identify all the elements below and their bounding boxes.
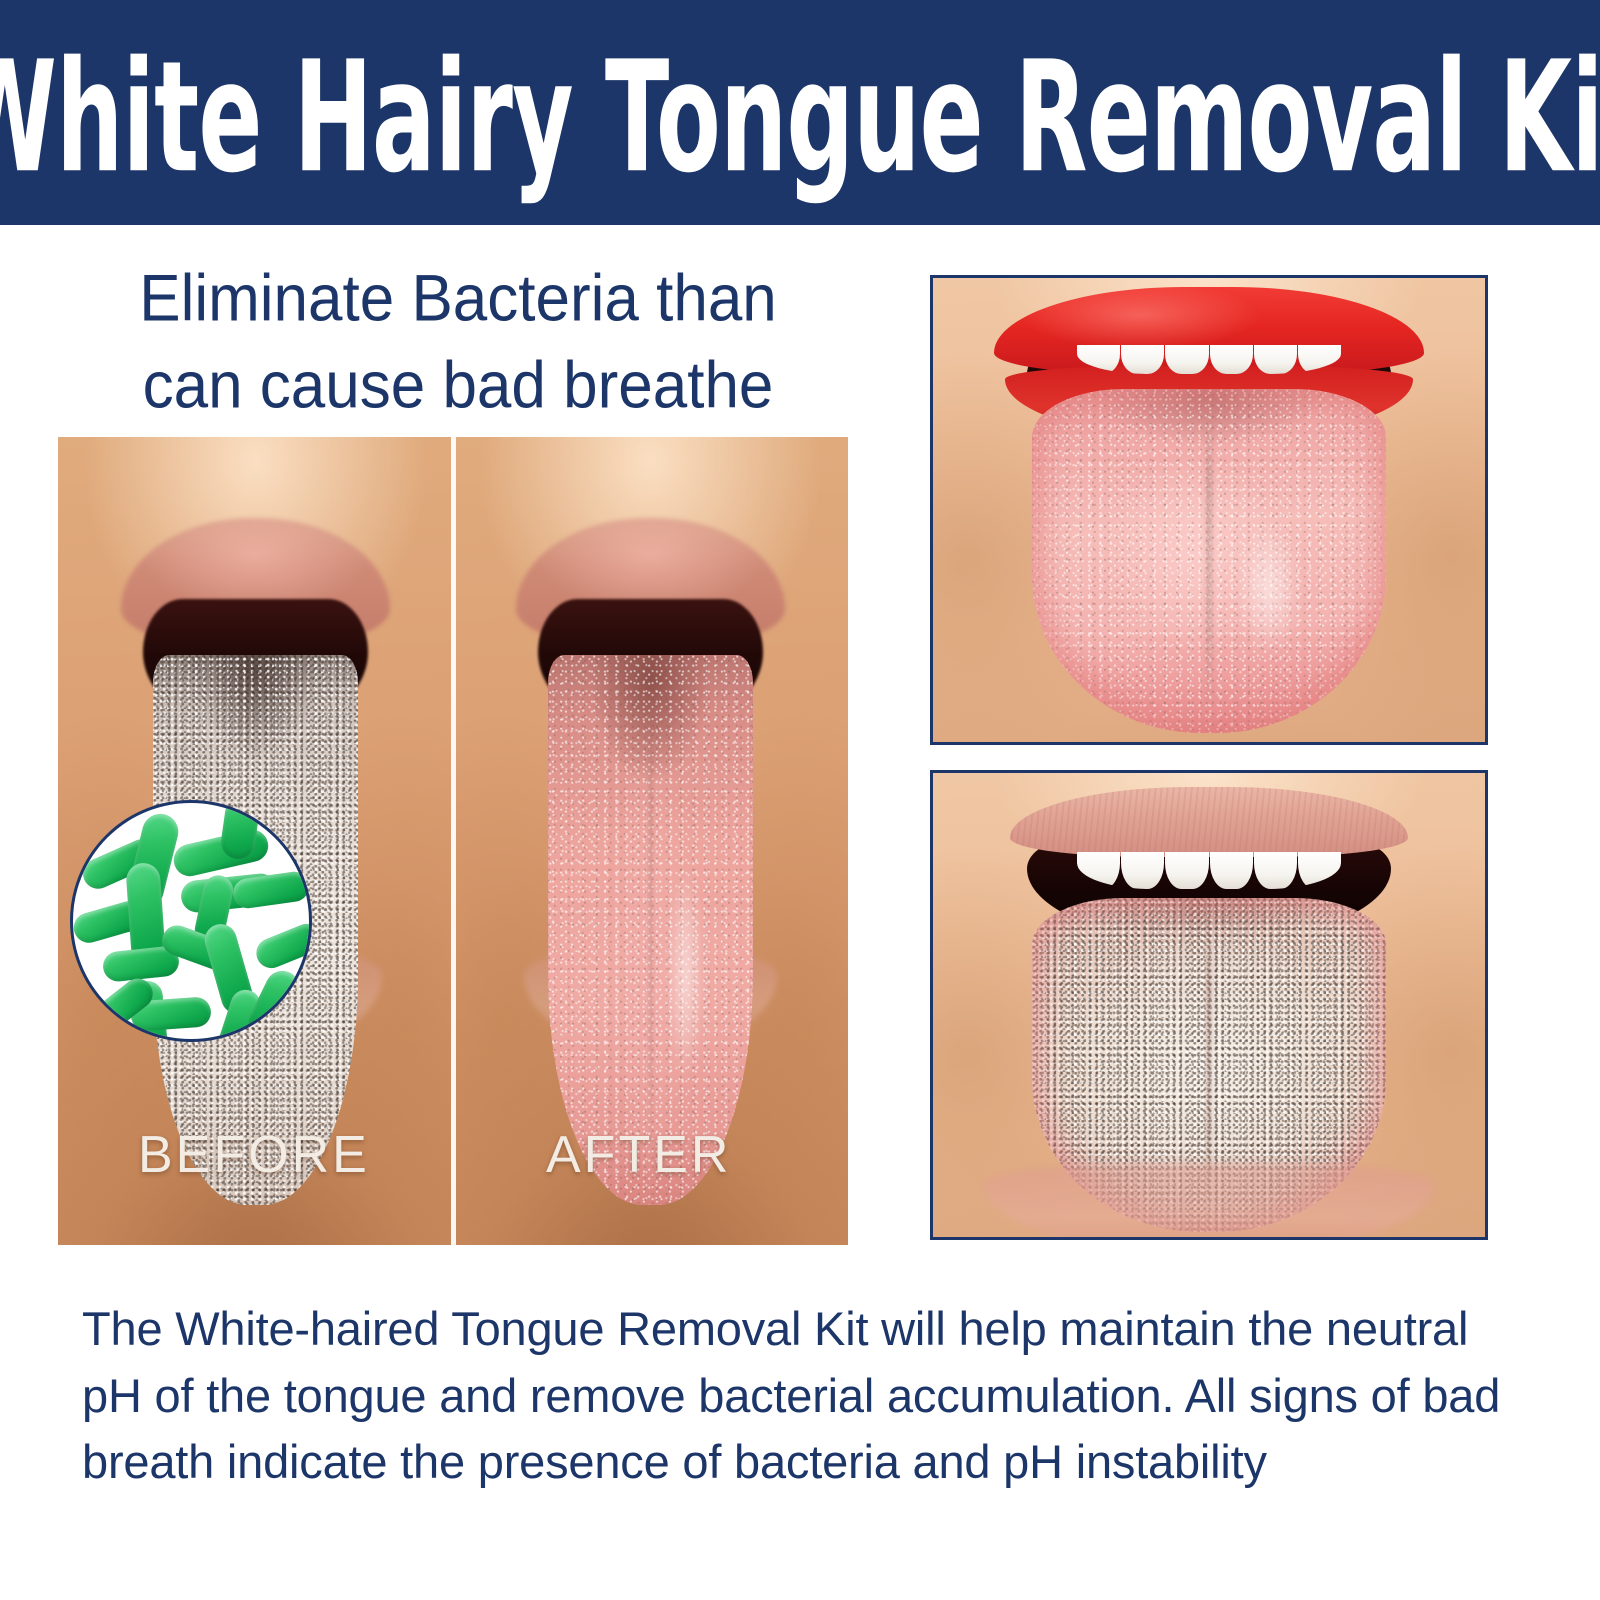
healthy-tongue-photo <box>930 275 1488 745</box>
subtitle-line-2: can cause bad breathe <box>58 343 858 430</box>
tooth <box>1210 345 1253 374</box>
tongue-edge-shading <box>1032 389 1385 732</box>
tooth <box>1254 345 1297 374</box>
tooth <box>1254 852 1297 889</box>
tooth <box>1121 345 1164 374</box>
before-after-comparison-image: BEFORE AFTER <box>58 437 848 1245</box>
header-banner: White Hairy Tongue Removal Kit <box>0 0 1600 225</box>
subtitle-line-1: Eliminate Bacteria than <box>58 256 858 343</box>
after-label: AFTER <box>546 1125 731 1185</box>
tongue-midline <box>649 688 652 1172</box>
upper-teeth-row <box>1077 852 1342 889</box>
after-half <box>453 437 848 1245</box>
bacteria-magnifier-icon <box>70 800 312 1042</box>
tongue-gloss-highlight <box>667 864 704 1084</box>
product-marketing-image: White Hairy Tongue Removal Kit Eliminate… <box>0 0 1600 1600</box>
upper-teeth-row <box>1077 345 1342 374</box>
bacteria-rod <box>252 919 312 972</box>
before-label: BEFORE <box>138 1125 370 1185</box>
tooth <box>1165 345 1208 374</box>
tooth <box>1210 852 1253 889</box>
tongue-gloss-highlight <box>1237 520 1301 657</box>
product-description-paragraph: The White-haired Tongue Removal Kit will… <box>82 1296 1522 1496</box>
lower-lip <box>983 1163 1436 1240</box>
coated-tongue-photo <box>930 770 1488 1240</box>
subtitle-heading: Eliminate Bacteria than can cause bad br… <box>58 256 858 429</box>
healthy-pink-tongue <box>1032 389 1385 732</box>
page-title: White Hairy Tongue Removal Kit <box>0 32 1600 193</box>
tooth <box>1165 852 1208 889</box>
tooth <box>1121 852 1164 889</box>
healthy-tongue <box>548 655 753 1204</box>
before-after-divider <box>451 437 456 1245</box>
